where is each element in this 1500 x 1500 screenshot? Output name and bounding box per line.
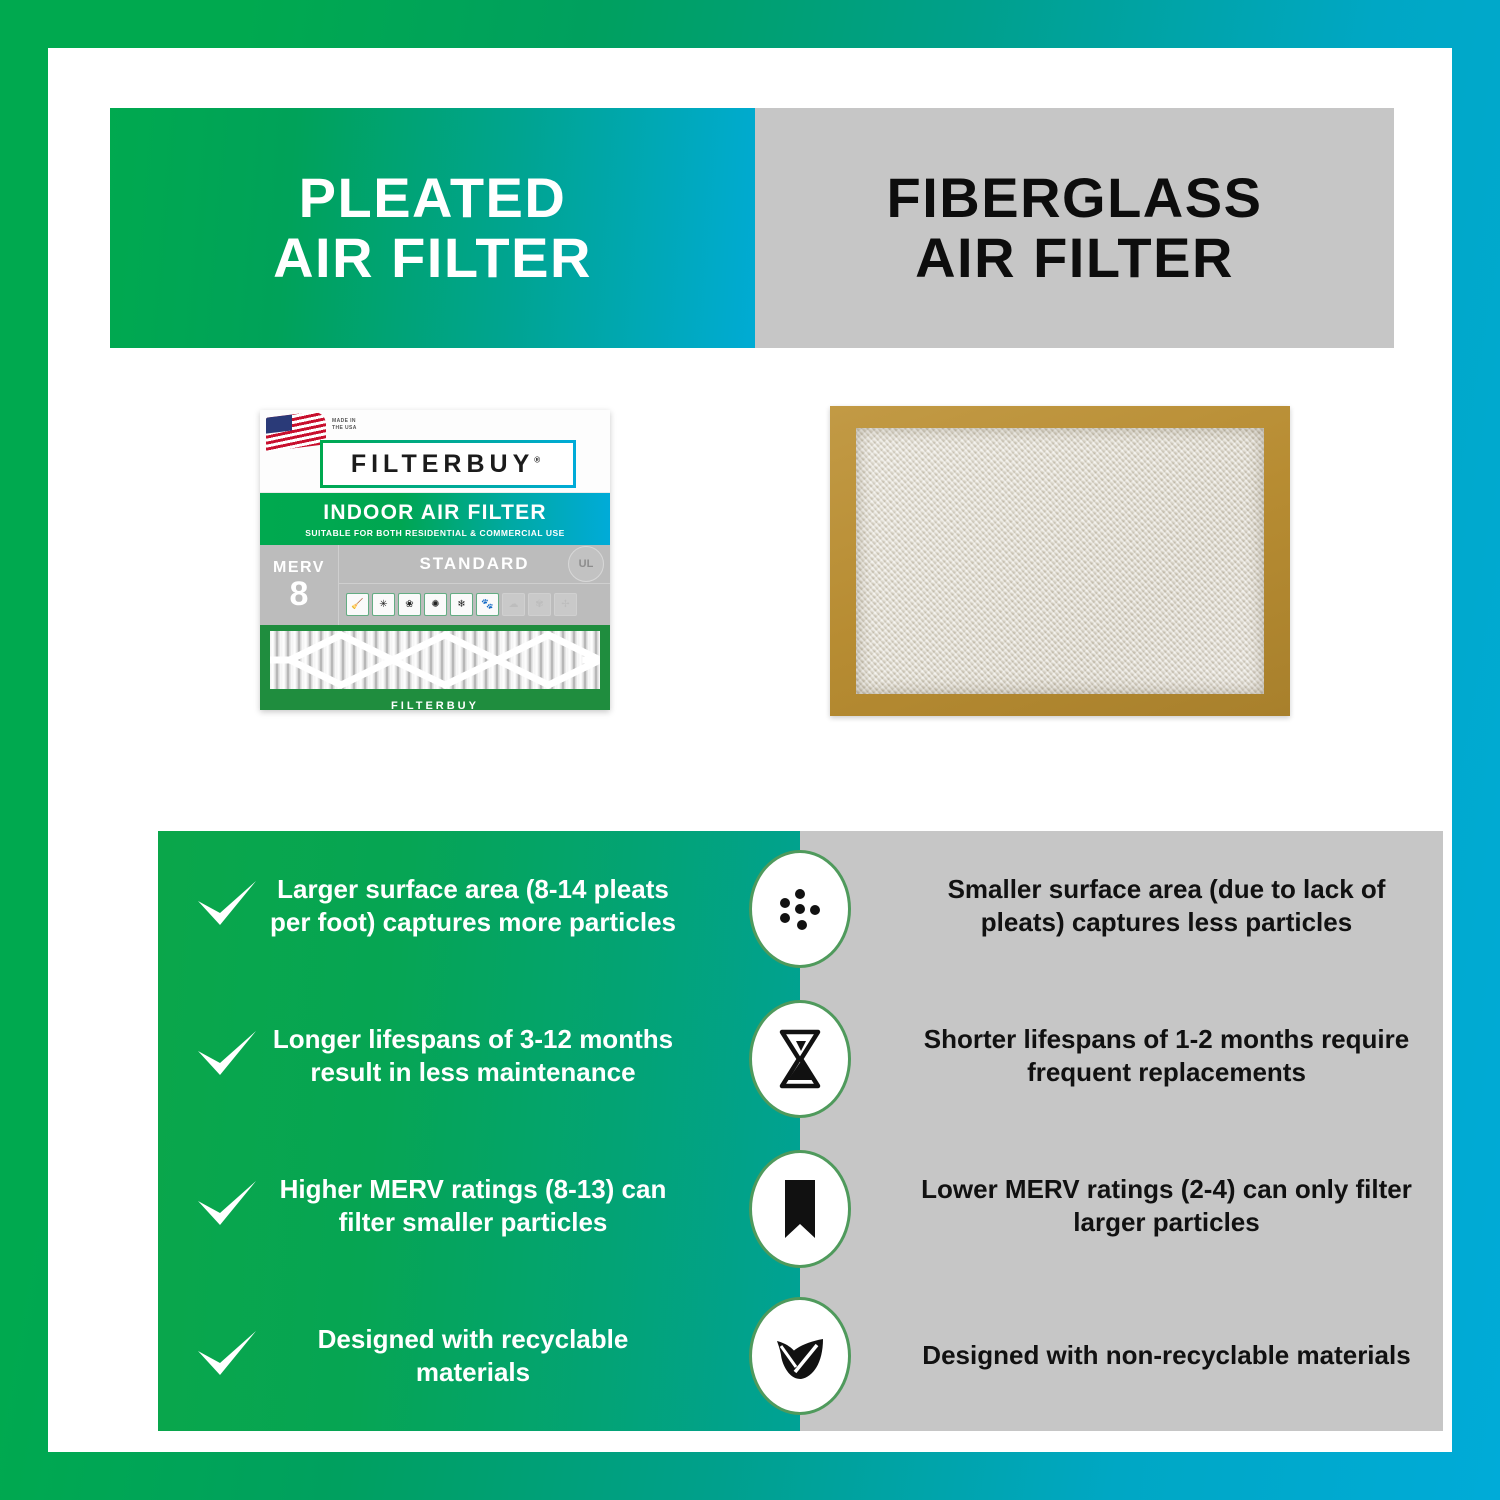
- comparison-row: Designed with non-recyclable materials: [800, 1281, 1443, 1431]
- comparison-row: Lower MERV ratings (2-4) can only filter…: [800, 1131, 1443, 1281]
- smoke-icon: ☁: [502, 593, 525, 616]
- merv-value: 8: [290, 577, 309, 611]
- content-canvas: PLEATED AIR FILTER FIBERGLASS AIR FILTER…: [48, 48, 1452, 1452]
- header-fiberglass-title: FIBERGLASS AIR FILTER: [887, 168, 1263, 289]
- outer-gradient-frame: PLEATED AIR FILTER FIBERGLASS AIR FILTER…: [0, 0, 1500, 1500]
- comparison-left-text: Higher MERV ratings (8-13) can filter sm…: [266, 1173, 680, 1240]
- header-fiberglass-line1: FIBERGLASS: [887, 168, 1263, 228]
- comparison-panel: Larger surface area (8-14 pleats per foo…: [158, 831, 1443, 1431]
- comparison-left-text: Larger surface area (8-14 pleats per foo…: [266, 873, 680, 940]
- comparison-column-fiberglass: Smaller surface area (due to lack of ple…: [800, 831, 1443, 1431]
- product-images-row: MADE INTHE USA FILTERBUY® INDOOR AIR FIL…: [110, 348, 1394, 778]
- virus-icon: ✢: [554, 593, 577, 616]
- package-spec-section: MERV 8 STANDARD UL 🧹 ✳ ❀: [260, 545, 610, 625]
- fiberglass-media-texture: [856, 428, 1264, 694]
- registered-mark: ®: [534, 455, 545, 464]
- leaf-recycle-icon: [749, 1297, 851, 1415]
- household-dust-lint-icon: 🧹: [346, 593, 369, 616]
- package-top-section: MADE INTHE USA FILTERBUY®: [260, 410, 610, 493]
- comparison-right-text: Shorter lifespans of 1-2 months require …: [920, 1023, 1413, 1090]
- package-band-subtitle: SUITABLE FOR BOTH RESIDENTIAL & COMMERCI…: [305, 528, 565, 538]
- comparison-right-text: Lower MERV ratings (2-4) can only filter…: [920, 1173, 1413, 1240]
- lint-icon: ❄: [450, 593, 473, 616]
- comparison-row: Smaller surface area (due to lack of ple…: [800, 831, 1443, 981]
- header-pleated-title: PLEATED AIR FILTER: [273, 168, 592, 289]
- fiberglass-product-cell: [752, 348, 1394, 778]
- headers-row: PLEATED AIR FILTER FIBERGLASS AIR FILTER: [110, 108, 1394, 348]
- pleated-media-section: FILTERBUY: [260, 625, 610, 710]
- package-gradient-band: INDOOR AIR FILTER SUITABLE FOR BOTH RESI…: [260, 493, 610, 545]
- package-band-title: INDOOR AIR FILTER: [323, 501, 546, 525]
- filterbuy-logo: FILTERBUY®: [320, 440, 576, 488]
- check-icon: [188, 1029, 266, 1083]
- header-pleated: PLEATED AIR FILTER: [110, 108, 755, 348]
- pollen-icon: ❀: [398, 593, 421, 616]
- comparison-row: Higher MERV ratings (8-13) can filter sm…: [158, 1131, 800, 1281]
- comparison-row: Shorter lifespans of 1-2 months require …: [800, 981, 1443, 1131]
- header-pleated-line2: AIR FILTER: [273, 228, 592, 288]
- ul-certification-icon: UL: [568, 546, 604, 582]
- mold-icon: ✺: [424, 593, 447, 616]
- comparison-right-text: Designed with non-recyclable materials: [920, 1339, 1413, 1372]
- fiberglass-filter-image: [830, 406, 1290, 716]
- feature-icons-row: 🧹 ✳ ❀ ✺ ❄ 🐾 ☁ ✾ ✢: [339, 584, 610, 625]
- hourglass-icon: [749, 1000, 851, 1118]
- header-pleated-line1: PLEATED: [273, 168, 592, 228]
- header-fiberglass: FIBERGLASS AIR FILTER: [755, 108, 1394, 348]
- dust-mite-debris-icon: ✳: [372, 593, 395, 616]
- comparison-row: Longer lifespans of 3-12 months result i…: [158, 981, 800, 1131]
- comparison-left-text: Longer lifespans of 3-12 months result i…: [266, 1023, 680, 1090]
- merv-rating-block: MERV 8: [260, 545, 339, 625]
- check-icon: [188, 1179, 266, 1233]
- made-in-usa-label: MADE INTHE USA: [332, 418, 357, 431]
- tier-row: STANDARD UL: [339, 545, 610, 584]
- pleated-product-cell: MADE INTHE USA FILTERBUY® INDOOR AIR FIL…: [110, 348, 752, 778]
- pleat-texture: [270, 631, 600, 689]
- tier-label: STANDARD: [419, 554, 529, 574]
- pet-dander-icon: 🐾: [476, 593, 499, 616]
- package-footer-brand: FILTERBUY: [260, 700, 610, 710]
- comparison-right-text: Smaller surface area (due to lack of ple…: [920, 873, 1413, 940]
- bookmark-rating-icon: [749, 1150, 851, 1268]
- filterbuy-filter-package: MADE INTHE USA FILTERBUY® INDOOR AIR FIL…: [260, 410, 610, 710]
- check-icon: [188, 879, 266, 933]
- bacteria-icon: ✾: [528, 593, 551, 616]
- particles-icon: [749, 850, 851, 968]
- check-icon: [188, 1329, 266, 1383]
- header-fiberglass-line2: AIR FILTER: [887, 228, 1263, 288]
- brand-name: FILTERBUY: [351, 450, 534, 478]
- comparison-column-pleated: Larger surface area (8-14 pleats per foo…: [158, 831, 800, 1431]
- comparison-left-text: Designed with recyclable materials: [266, 1323, 680, 1390]
- comparison-row: Designed with recyclable materials: [158, 1281, 800, 1431]
- comparison-row: Larger surface area (8-14 pleats per foo…: [158, 831, 800, 981]
- usa-flag-icon: [266, 410, 326, 451]
